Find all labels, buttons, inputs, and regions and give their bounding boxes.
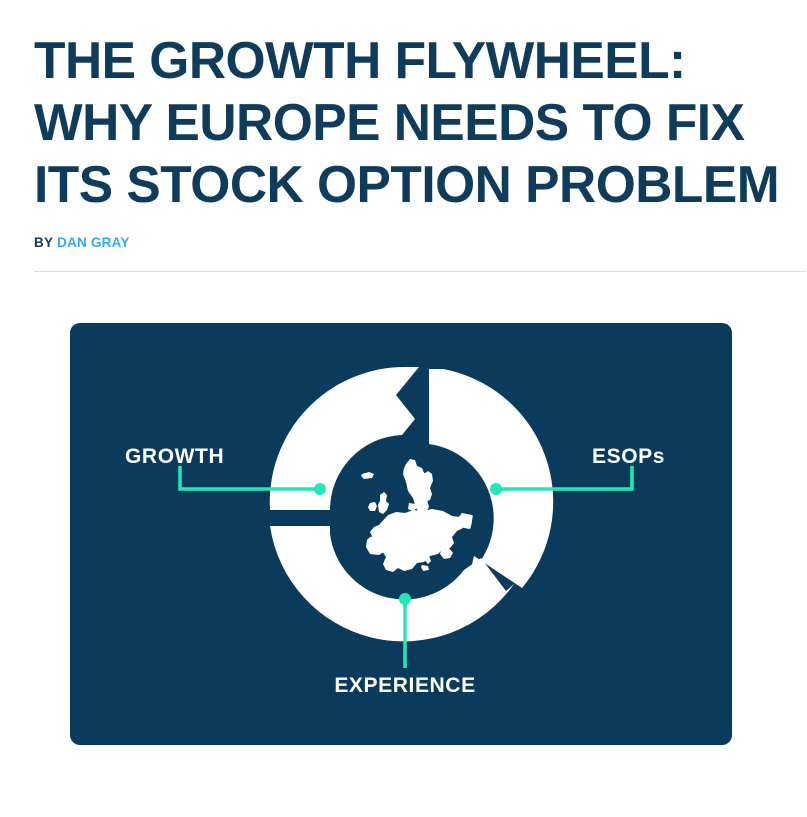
flywheel-infographic-card: GROWTH ESOPs EXPERIENCE (70, 323, 732, 745)
label-esops: ESOPs (592, 445, 665, 468)
label-esops-main: ESOP (592, 445, 653, 468)
label-esops-suffix: s (653, 445, 665, 468)
author-link[interactable]: DAN GRAY (57, 235, 129, 250)
title-line-2: WHY EUROPE NEEDS TO FIX (34, 92, 767, 154)
byline: BYDAN GRAY (34, 235, 130, 250)
article-header: THE GROWTH FLYWHEEL: WHY EUROPE NEEDS TO… (34, 30, 806, 216)
flywheel-diagram: GROWTH ESOPs EXPERIENCE (70, 323, 732, 745)
article-page: THE GROWTH FLYWHEEL: WHY EUROPE NEEDS TO… (0, 0, 807, 817)
connector-dot-esops (490, 483, 502, 495)
page-title: THE GROWTH FLYWHEEL: WHY EUROPE NEEDS TO… (34, 30, 767, 216)
title-line-3: ITS STOCK OPTION PROBLEM (34, 154, 767, 216)
title-line-1: THE GROWTH FLYWHEEL: (34, 30, 767, 92)
connector-dot-growth (314, 483, 326, 495)
label-growth: GROWTH (125, 445, 224, 468)
header-divider (34, 271, 806, 272)
byline-prefix: BY (34, 235, 53, 250)
label-experience: EXPERIENCE (334, 674, 475, 697)
connector-dot-experience (399, 593, 411, 605)
